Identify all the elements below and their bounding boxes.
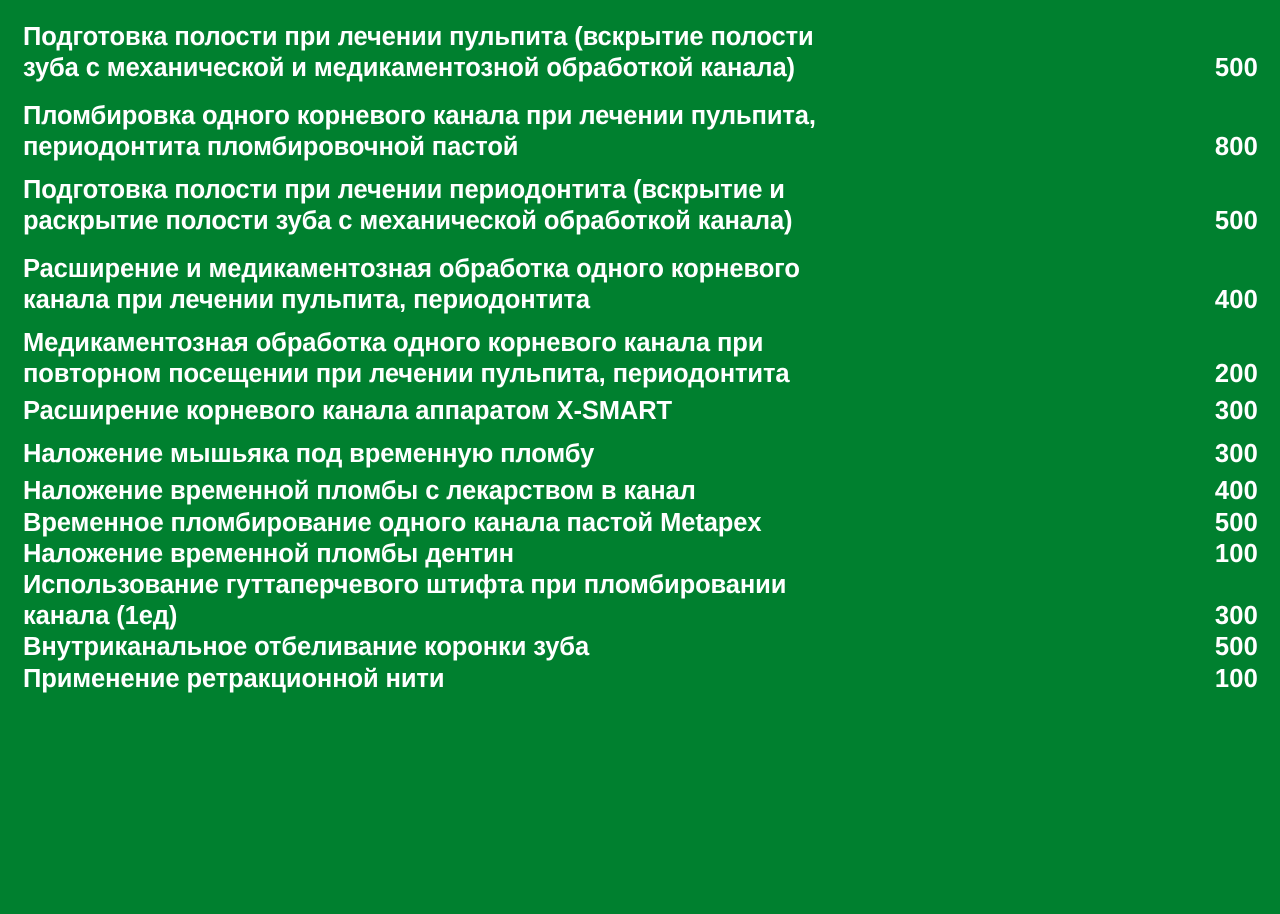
table-row: Наложение временной пломбы дентин 100 bbox=[23, 539, 1258, 570]
service-price: 800 bbox=[1162, 132, 1258, 163]
service-name: Пломбировка одного корневого канала при … bbox=[23, 101, 816, 163]
price-board: Подготовка полости при лечении пульпита … bbox=[0, 0, 1280, 914]
service-name: Внутриканальное отбеливание коронки зуба bbox=[23, 632, 589, 663]
price-list: Подготовка полости при лечении пульпита … bbox=[23, 22, 1258, 695]
service-name: Наложение мышьяка под временную пломбу bbox=[23, 439, 594, 470]
service-price: 100 bbox=[1162, 539, 1258, 570]
service-price: 200 bbox=[1162, 359, 1258, 390]
service-price: 400 bbox=[1162, 476, 1258, 507]
table-row: Расширение и медикаментозная обработка о… bbox=[23, 254, 1258, 316]
table-row: Подготовка полости при лечении пульпита … bbox=[23, 22, 1258, 84]
service-name: Расширение корневого канала аппаратом X-… bbox=[23, 396, 672, 427]
service-price: 300 bbox=[1162, 601, 1258, 632]
service-name: Наложение временной пломбы с лекарством … bbox=[23, 476, 696, 507]
service-price: 500 bbox=[1162, 206, 1258, 237]
table-row: Временное пломбирование одного канала па… bbox=[23, 508, 1258, 539]
table-row: Внутриканальное отбеливание коронки зуба… bbox=[23, 632, 1258, 663]
service-price: 300 bbox=[1162, 396, 1258, 427]
service-name: Применение ретракционной нити bbox=[23, 664, 444, 695]
table-row: Подготовка полости при лечении периодонт… bbox=[23, 175, 1258, 237]
service-name: Использование гуттаперчевого штифта при … bbox=[23, 570, 786, 632]
service-name: Наложение временной пломбы дентин bbox=[23, 539, 514, 570]
table-row: Пломбировка одного корневого канала при … bbox=[23, 101, 1258, 163]
service-name: Подготовка полости при лечении периодонт… bbox=[23, 175, 792, 237]
service-price: 400 bbox=[1162, 285, 1258, 316]
service-name: Временное пломбирование одного канала па… bbox=[23, 508, 761, 539]
service-price: 500 bbox=[1162, 508, 1258, 539]
table-row: Использование гуттаперчевого штифта при … bbox=[23, 570, 1258, 632]
table-row: Наложение временной пломбы с лекарством … bbox=[23, 476, 1258, 507]
table-row: Наложение мышьяка под временную пломбу 3… bbox=[23, 439, 1258, 470]
table-row: Применение ретракционной нити 100 bbox=[23, 664, 1258, 695]
service-name: Подготовка полости при лечении пульпита … bbox=[23, 22, 814, 84]
service-price: 100 bbox=[1162, 664, 1258, 695]
service-name: Медикаментозная обработка одного корнево… bbox=[23, 328, 789, 390]
service-price: 500 bbox=[1162, 632, 1258, 663]
table-row: Медикаментозная обработка одного корнево… bbox=[23, 328, 1258, 390]
table-row: Расширение корневого канала аппаратом X-… bbox=[23, 396, 1258, 427]
service-price: 300 bbox=[1162, 439, 1258, 470]
service-price: 500 bbox=[1162, 53, 1258, 84]
service-name: Расширение и медикаментозная обработка о… bbox=[23, 254, 800, 316]
